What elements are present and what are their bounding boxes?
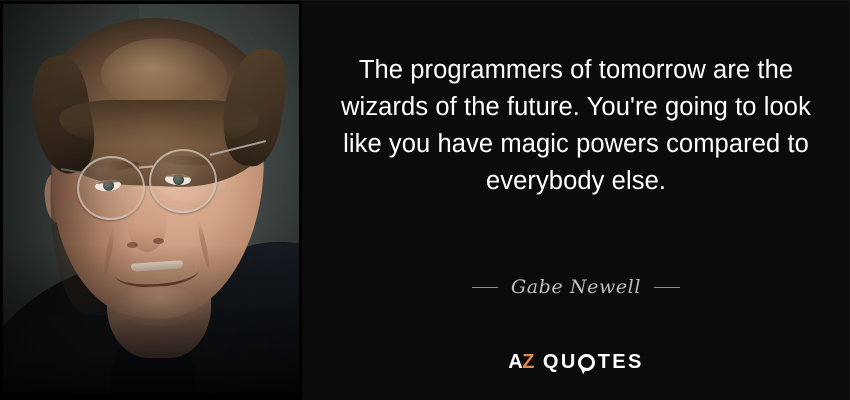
logo-quotes-part-2: TES <box>598 352 644 372</box>
photo-backdrop-shadow-bottom <box>3 245 299 393</box>
attribution-author-name: Gabe Newell <box>511 276 641 298</box>
eyeglass-temple-right <box>210 140 267 156</box>
quote-panel: The programmers of tomorrow are the wiza… <box>302 0 850 400</box>
speech-bubble-icon <box>578 354 595 371</box>
portrait-panel <box>0 0 302 400</box>
portrait-photo <box>3 4 299 393</box>
quote-card: The programmers of tomorrow are the wiza… <box>0 0 850 400</box>
attribution-rule-right <box>654 287 680 288</box>
azquotes-logo[interactable]: A Z QU TES <box>326 352 826 372</box>
logo-wordmark: A Z QU TES <box>508 352 643 372</box>
quote-text: The programmers of tomorrow are the wiza… <box>326 52 826 200</box>
speech-bubble-tail <box>578 366 586 374</box>
eyeglass-temple-left <box>61 168 83 174</box>
quote-attribution: Gabe Newell <box>326 276 826 298</box>
logo-letter-z: Z <box>522 352 534 372</box>
attribution-rule-left <box>472 287 498 288</box>
logo-quotes-part-1: QU <box>543 352 578 372</box>
nostril-right <box>153 238 164 244</box>
logo-letter-a: A <box>508 352 522 372</box>
logo-word-quotes: QU TES <box>543 352 644 372</box>
